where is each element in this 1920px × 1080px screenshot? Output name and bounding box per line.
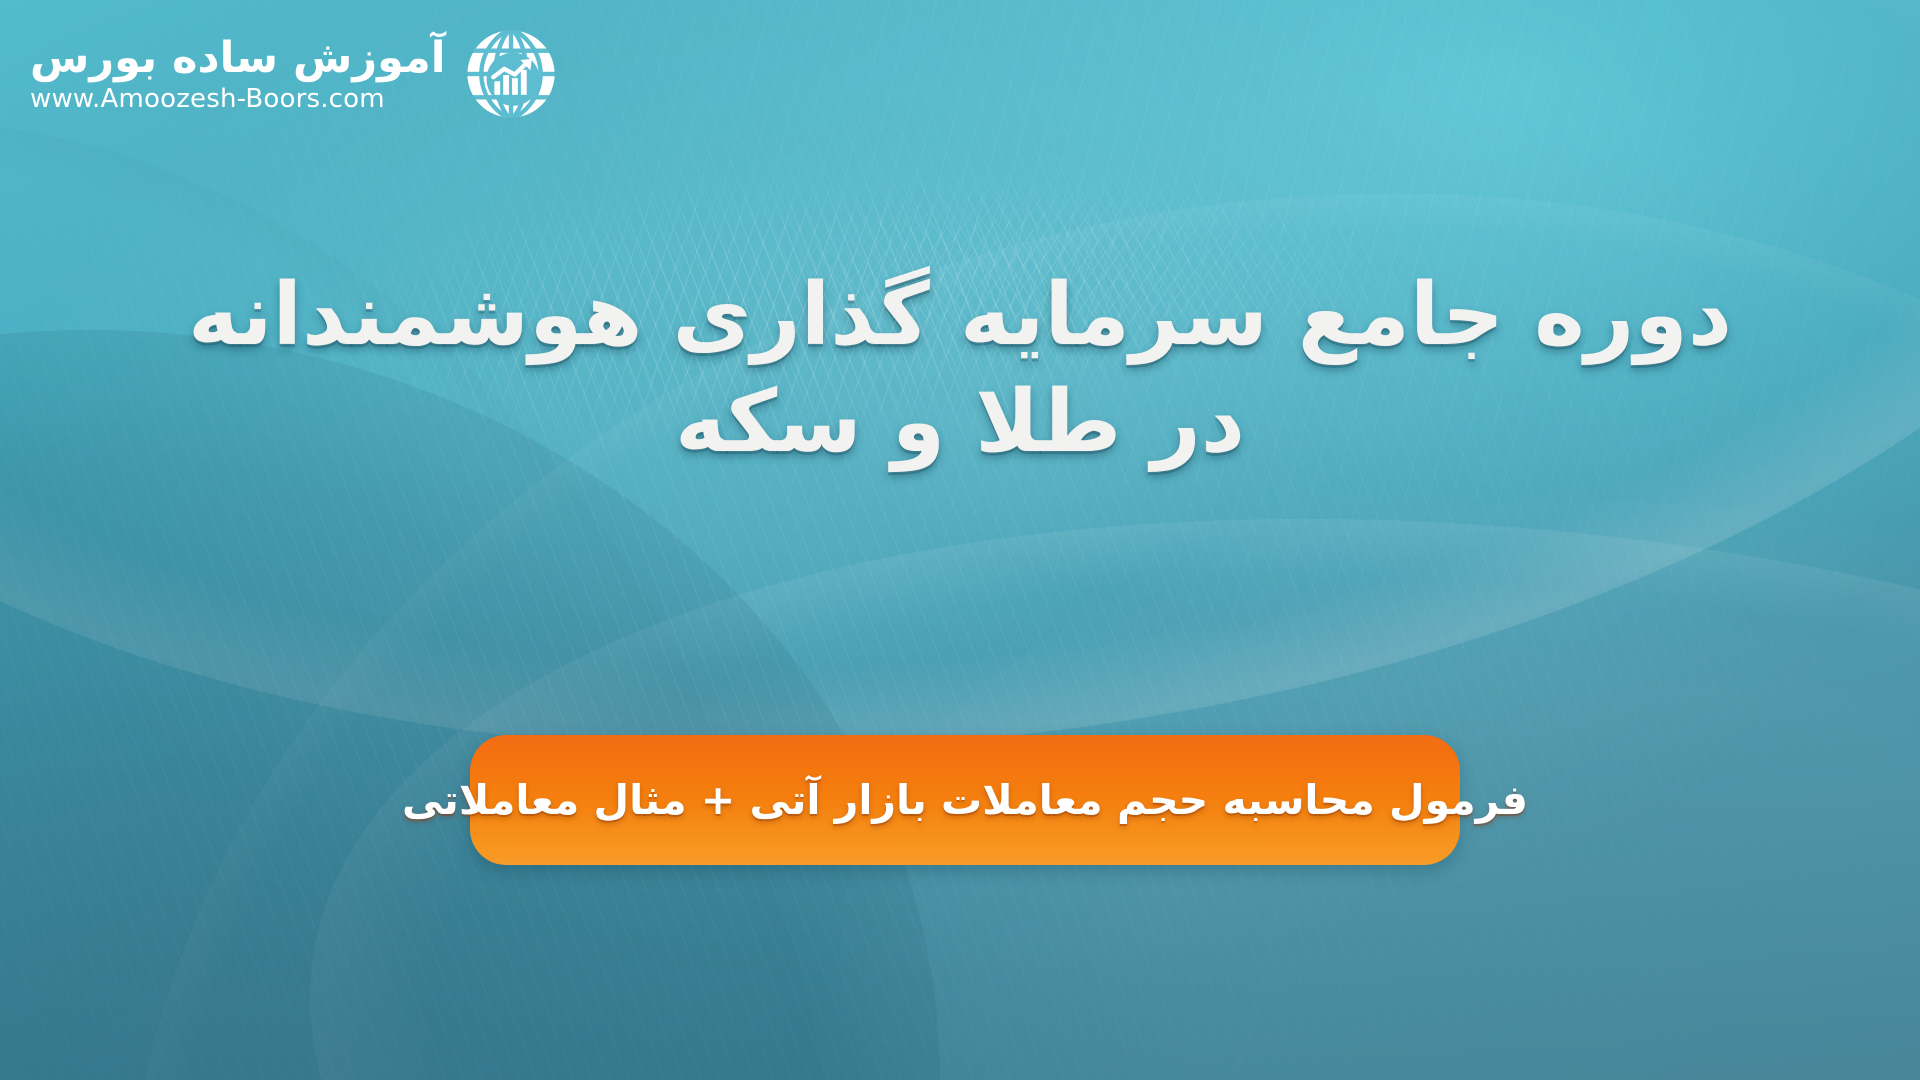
cta-label: فرمول محاسبه حجم معاملات بازار آتی + مثا… bbox=[402, 776, 1528, 824]
brand-name: آموزش ساده بورس bbox=[30, 37, 445, 80]
background-vignette bbox=[0, 0, 1920, 1080]
brand-website-url: www.Amoozesh-Boors.com bbox=[30, 86, 385, 112]
brand-text-block: آموزش ساده بورس www.Amoozesh-Boors.com bbox=[30, 37, 445, 112]
cta-banner[interactable]: فرمول محاسبه حجم معاملات بازار آتی + مثا… bbox=[470, 735, 1460, 865]
banner-canvas: آموزش ساده بورس www.Amoozesh-Boors.com د… bbox=[0, 0, 1920, 1080]
brand-logo[interactable]: آموزش ساده بورس www.Amoozesh-Boors.com bbox=[30, 22, 563, 126]
globe-growth-chart-icon bbox=[459, 22, 563, 126]
